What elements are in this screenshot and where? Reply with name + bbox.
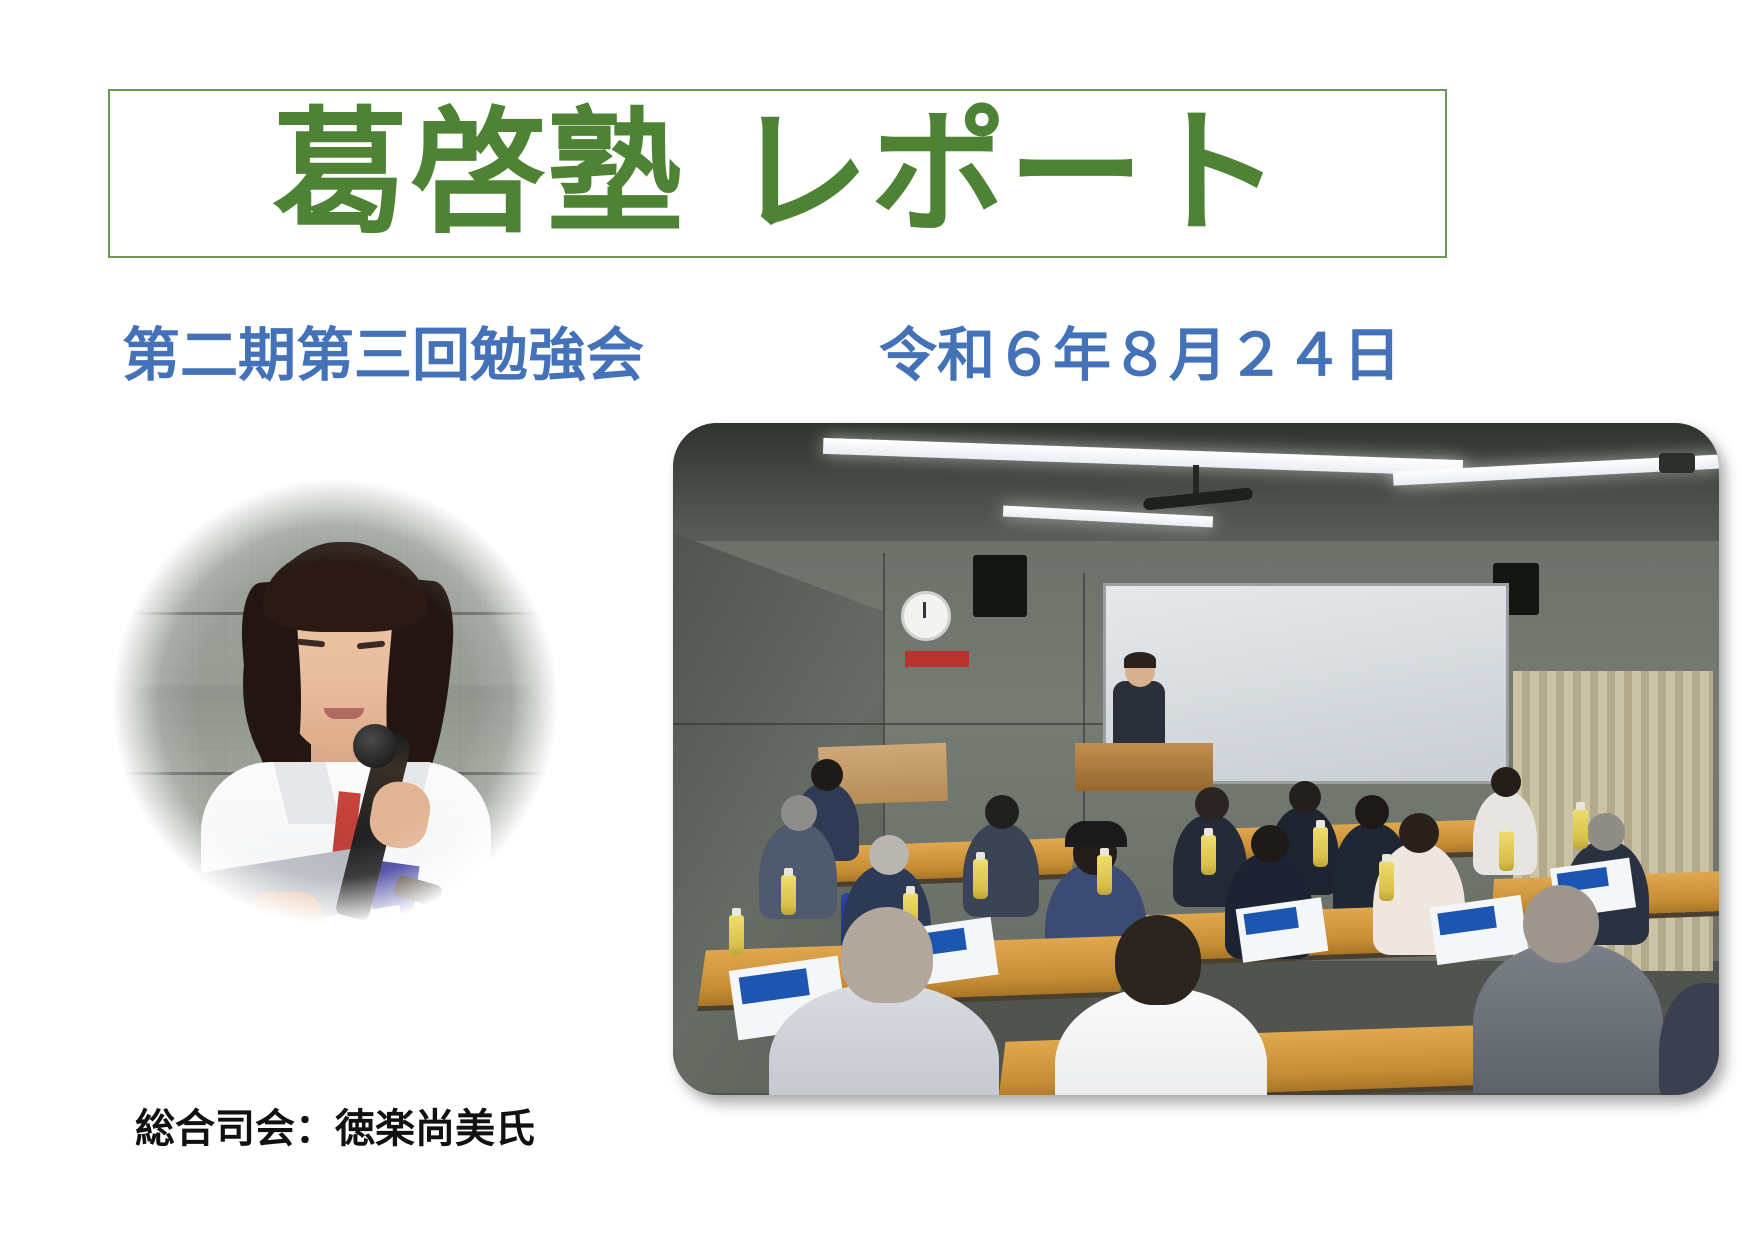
drink-bottle-8: [1379, 861, 1394, 901]
wall-panel-seam-3: [673, 723, 1103, 725]
attendee-front-2-head: [1115, 915, 1201, 1005]
attendee-mid-2-hat: [1065, 821, 1127, 847]
attendee-front-1-head: [841, 907, 933, 1003]
drink-bottle-6: [1201, 835, 1216, 875]
exit-sign: [905, 651, 969, 667]
drink-bottle-9: [1499, 831, 1514, 871]
handout-1-graphic: [739, 969, 810, 1005]
date-label: 令和６年８月２４日: [879, 326, 1401, 384]
attendee-far-6-head: [1491, 767, 1521, 797]
attendee-mid-1-head: [869, 835, 909, 875]
attendee-mid-5-head: [1587, 813, 1625, 851]
drink-bottle-1: [729, 915, 744, 955]
portrait-caption: 総合司会：徳楽尚美氏: [95, 1096, 575, 1154]
classroom-photo: [673, 423, 1719, 1095]
handout-5-graphic: [1438, 906, 1498, 936]
attendee-far-2-head: [781, 795, 817, 831]
portrait-hand-left: [245, 892, 323, 942]
drink-bottle-5: [1097, 855, 1112, 895]
drink-bottle-7: [1313, 827, 1328, 867]
session-label: 第二期第三回勉強会: [122, 326, 644, 384]
microphone-head-icon: [353, 724, 397, 768]
wall-speaker-left: [973, 555, 1027, 617]
page-title: 葛啓塾 レポート: [110, 106, 1445, 242]
presenter-head: [1125, 655, 1155, 687]
attendee-far-1-head: [811, 759, 843, 791]
drink-bottle-10: [1573, 809, 1588, 849]
subheader-row: 第二期第三回勉強会 令和６年８月２４日: [0, 318, 1755, 398]
attendee-front-3-head: [1523, 885, 1599, 963]
attendee-mid-4-head: [1399, 813, 1439, 853]
presenter-podium: [1075, 743, 1213, 791]
handout-4-graphic: [1243, 907, 1299, 935]
attendee-far-7-head: [1355, 795, 1389, 829]
attendee-far-3-head: [985, 795, 1019, 829]
title-box: 葛啓塾 レポート: [108, 89, 1447, 258]
attendee-mid-3-head: [1251, 825, 1289, 863]
ceiling-vent: [1659, 453, 1695, 473]
wall-clock-icon: [901, 591, 951, 641]
drink-bottle-2: [781, 875, 796, 915]
portrait-mouth: [324, 708, 364, 719]
drink-bottle-4: [973, 859, 988, 899]
portrait-figure: [95, 462, 575, 942]
attendee-far-4-head: [1195, 787, 1229, 821]
attendee-front-3: [1473, 943, 1663, 1093]
attendee-far-2: [759, 823, 837, 919]
attendee-front-4: [1659, 983, 1719, 1095]
portrait-photo: [95, 462, 575, 942]
attendee-far-5-head: [1289, 781, 1321, 813]
